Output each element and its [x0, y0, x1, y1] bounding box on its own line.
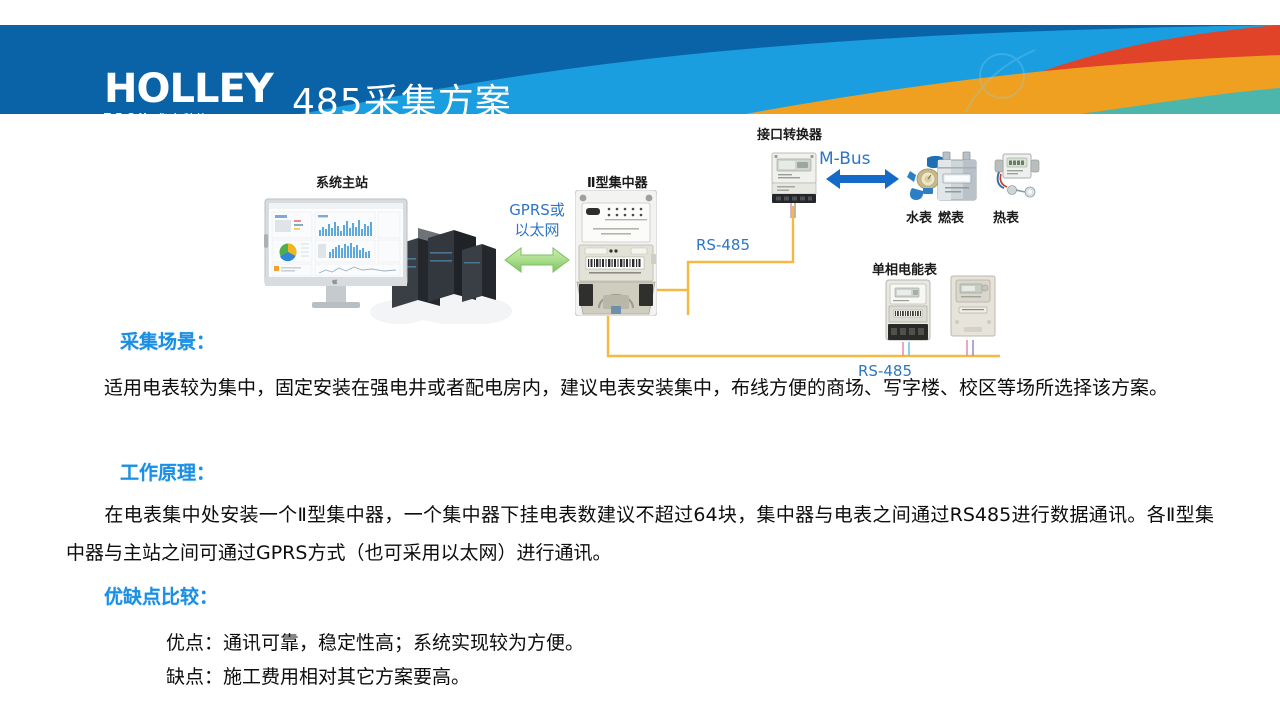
page-title: 485采集方案: [292, 73, 512, 114]
link-label-rs485-upper: RS-485: [696, 235, 750, 255]
link-label-gprs: GPRS或 以太网: [501, 200, 573, 240]
slide-header: HOLLEY TECH 华立科技 485采集方案: [0, 25, 1280, 114]
section-body-principle: 在电表集中处安装一个Ⅱ型集中器，一个集中器下挂电表数建议不超过64块，集中器与电…: [66, 496, 1214, 572]
section-body-scenario: 适用电表较为集中，固定安装在强电井或者配电房内，建议电表安装集中，布线方便的商场…: [66, 369, 1214, 407]
paragraph-text-principle: 在电表集中处安装一个Ⅱ型集中器，一个集中器下挂电表数建议不超过64块，集中器与电…: [66, 504, 1214, 564]
concentrator-device: [575, 190, 657, 316]
logo-tech-text: TECH: [104, 112, 151, 114]
label-heat-meter: 热表: [993, 207, 1019, 226]
section-heading-scenario: 采集场景：: [120, 327, 215, 354]
paragraph-text-scenario: 适用电表较为集中，固定安装在强电井或者配电房内，建议电表安装集中，布线方便的商场…: [104, 377, 1168, 399]
wire-concentrator-to-meters: [608, 314, 1000, 356]
gprs-double-arrow: [505, 248, 569, 272]
gas-meter-icon: [936, 150, 978, 202]
mbus-double-arrow: [826, 169, 899, 189]
comparison-cons: 缺点：施工费用相对其它方案要高。: [166, 662, 470, 689]
gprs-line-1: GPRS或: [509, 201, 565, 219]
slide-root: HOLLEY TECH 华立科技 485采集方案: [0, 0, 1280, 720]
single-phase-meter-2: [950, 274, 996, 338]
comparison-pros: 优点：通讯可靠，稳定性高；系统实现较为方便。: [166, 628, 584, 655]
label-gas-meter: 燃表: [938, 207, 964, 226]
holley-logo: HOLLEY TECH 华立科技: [104, 71, 264, 114]
wire-concentrator-to-converter: [688, 206, 793, 315]
heat-meter-icon: [990, 150, 1042, 202]
label-interface-converter: 接口转换器: [757, 124, 822, 143]
section-heading-comparison: 优缺点比较：: [104, 582, 218, 609]
gprs-line-2: 以太网: [514, 221, 559, 239]
interface-converter-device: [771, 152, 817, 204]
logo-chinese-text: 华立科技: [157, 110, 209, 114]
master-station-monitor: [264, 198, 408, 316]
logo-wordmark: HOLLEY: [104, 71, 264, 107]
section-heading-principle: 工作原理：: [120, 458, 215, 485]
single-phase-meter-1: [885, 279, 931, 341]
label-master-station: 系统主站: [316, 172, 368, 191]
label-single-phase-meter: 单相电能表: [872, 259, 937, 278]
link-label-mbus: M-Bus: [819, 149, 871, 169]
label-water-meter: 水表: [906, 207, 932, 226]
label-concentrator: Ⅱ型集中器: [587, 172, 648, 191]
